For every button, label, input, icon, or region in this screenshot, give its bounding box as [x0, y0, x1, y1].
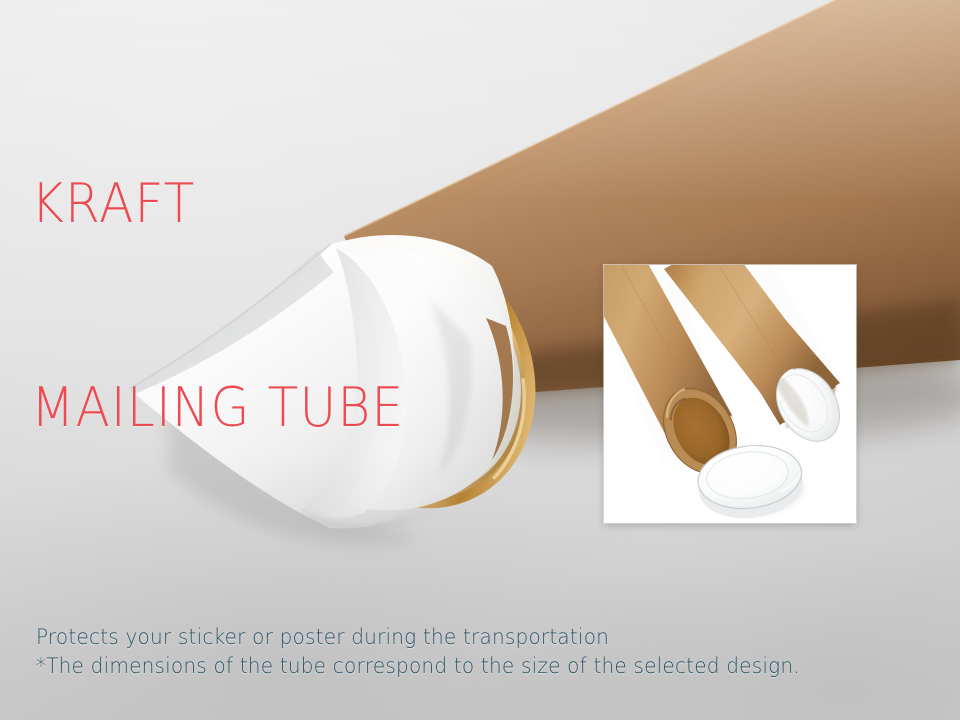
benefit-line-2: Plastic end caps fit tightly to secure t…	[36, 715, 663, 720]
inset-product-photo	[604, 265, 856, 523]
benefit-line-1: Protects your sticker or poster during t…	[36, 622, 663, 653]
tube-mouth-inner-wall	[486, 318, 513, 460]
benefits-text: Protects your sticker or poster during t…	[36, 560, 663, 720]
title-line-1: KRAFT	[31, 170, 404, 238]
product-marketing-image: KRAFT MAILING TUBE	[0, 0, 960, 720]
title-line-2: MAILING TUBE	[31, 374, 404, 442]
mailing-tubes-end-caps-svg	[604, 265, 856, 523]
footnote-text: *The dimensions of the tube correspond t…	[36, 652, 800, 680]
page-title: KRAFT MAILING TUBE	[31, 34, 404, 578]
